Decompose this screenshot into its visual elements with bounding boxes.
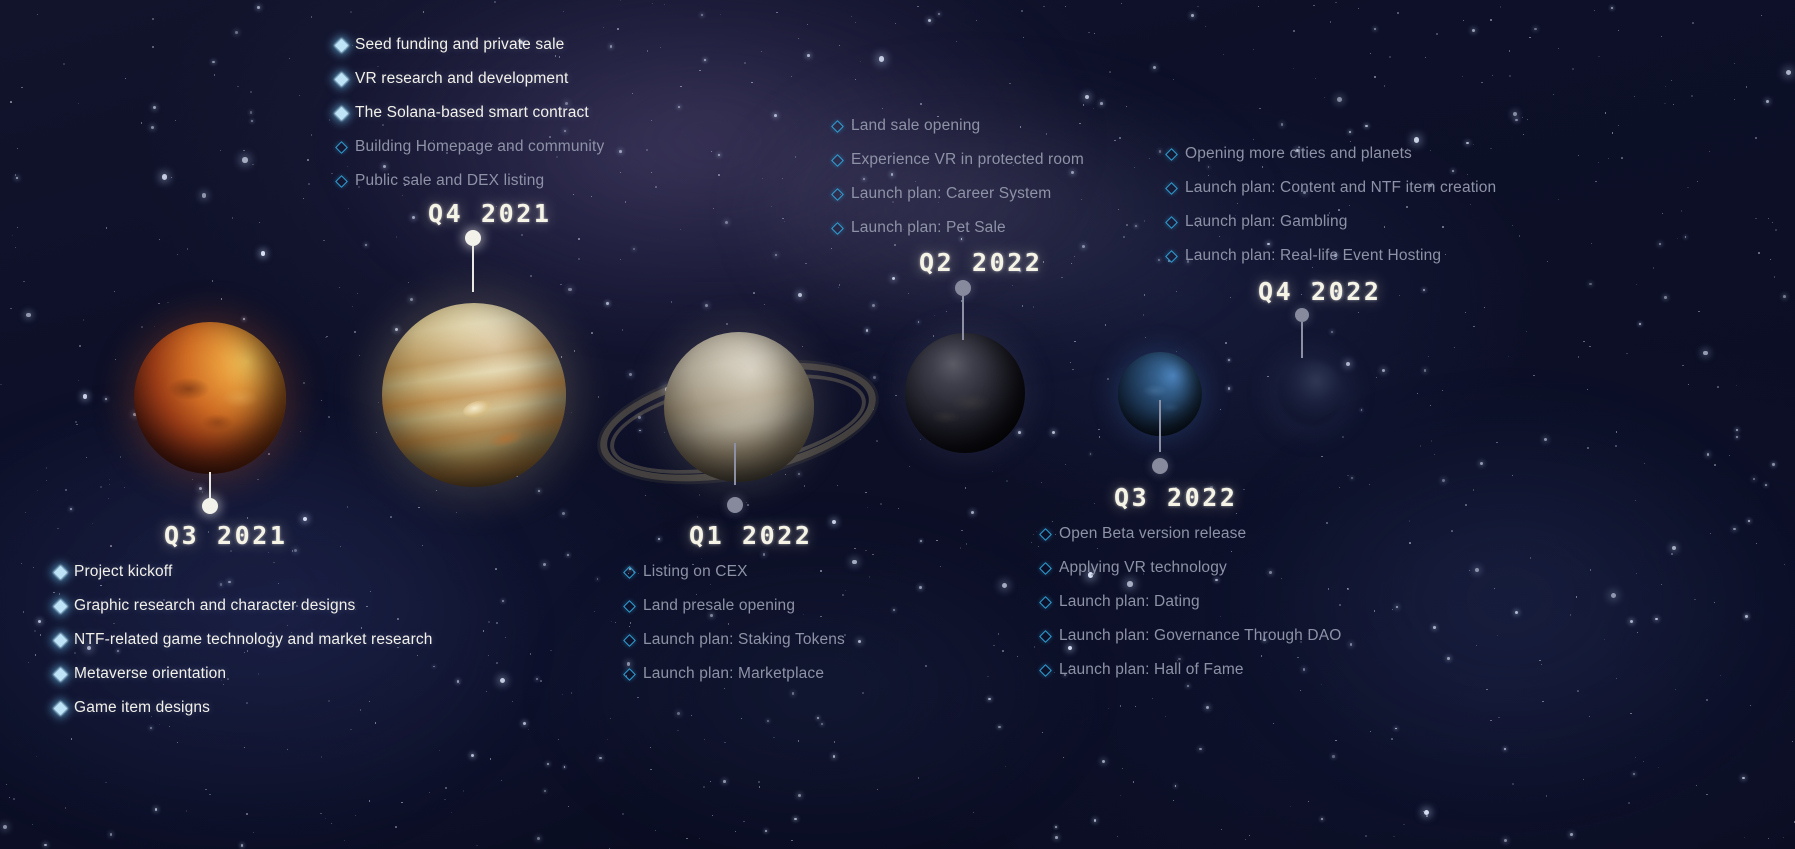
list-item[interactable]: Launch plan: Governance Through DAO bbox=[1041, 627, 1341, 645]
marker-dot[interactable] bbox=[202, 498, 218, 514]
list-item[interactable]: Listing on CEX bbox=[625, 563, 845, 581]
bullet-outline-diamond-icon bbox=[1039, 630, 1052, 643]
list-item-label: Launch plan: Staking Tokens bbox=[643, 631, 845, 649]
list-item-label: Game item designs bbox=[74, 699, 210, 717]
list-item[interactable]: Applying VR technology bbox=[1041, 559, 1341, 577]
bullet-filled-diamond-icon bbox=[54, 634, 67, 647]
list-item-label: Experience VR in protected room bbox=[851, 151, 1084, 169]
list-item[interactable]: Graphic research and character designs bbox=[56, 597, 433, 615]
bullet-filled-diamond-icon bbox=[335, 39, 348, 52]
list-item[interactable]: The Solana-based smart contract bbox=[337, 104, 604, 122]
saturn-cloud-bands bbox=[664, 332, 814, 482]
list-item[interactable]: Launch plan: Dating bbox=[1041, 593, 1341, 611]
bullet-outline-diamond-icon bbox=[831, 154, 844, 167]
list-item[interactable]: Launch plan: Gambling bbox=[1167, 213, 1496, 231]
planet-jupiter bbox=[382, 303, 566, 487]
bullet-outline-diamond-icon bbox=[623, 668, 636, 681]
list-item-label: Metaverse orientation bbox=[74, 665, 226, 683]
list-item-label: Launch plan: Content and NTF item creati… bbox=[1185, 179, 1496, 197]
list-item-label: Listing on CEX bbox=[643, 563, 748, 581]
marker-connector-line bbox=[1159, 400, 1161, 452]
bullet-outline-diamond-icon bbox=[1039, 596, 1052, 609]
planet-mars bbox=[134, 322, 286, 474]
bullet-filled-diamond-icon bbox=[54, 566, 67, 579]
list-item[interactable]: Launch plan: Hall of Fame bbox=[1041, 661, 1341, 679]
list-item-label: VR research and development bbox=[355, 70, 568, 88]
list-item[interactable]: Experience VR in protected room bbox=[833, 151, 1084, 169]
bullet-outline-diamond-icon bbox=[623, 566, 636, 579]
list-item[interactable]: Launch plan: Staking Tokens bbox=[625, 631, 845, 649]
milestone-title-q3-2021: Q3 2021 bbox=[164, 521, 288, 550]
list-item[interactable]: Building Homepage and community bbox=[337, 138, 604, 156]
list-item[interactable]: Launch plan: Real-life Event Hosting bbox=[1167, 247, 1496, 265]
bullet-outline-diamond-icon bbox=[335, 141, 348, 154]
marker-connector-line bbox=[734, 443, 736, 485]
planet-saturn-group bbox=[598, 330, 878, 490]
list-item[interactable]: NTF-related game technology and market r… bbox=[56, 631, 433, 649]
list-item[interactable]: Launch plan: Pet Sale bbox=[833, 219, 1084, 237]
bullet-outline-diamond-icon bbox=[623, 634, 636, 647]
list-item-label: NTF-related game technology and market r… bbox=[74, 631, 433, 649]
list-item-label: Launch plan: Real-life Event Hosting bbox=[1185, 247, 1441, 265]
list-item[interactable]: Game item designs bbox=[56, 699, 433, 717]
marker-dot[interactable] bbox=[955, 280, 971, 296]
marker-dot[interactable] bbox=[1295, 308, 1309, 322]
list-item-label: Launch plan: Hall of Fame bbox=[1059, 661, 1244, 679]
bullet-filled-diamond-icon bbox=[335, 107, 348, 120]
bullet-filled-diamond-icon bbox=[335, 73, 348, 86]
milestone-items-q3-2021: Project kickoff Graphic research and cha… bbox=[56, 563, 433, 733]
milestone-items-q1-2022: Listing on CEX Land presale opening Laun… bbox=[625, 563, 845, 699]
list-item-label: Building Homepage and community bbox=[355, 138, 604, 156]
list-item-label: Launch plan: Career System bbox=[851, 185, 1051, 203]
marker-connector-line bbox=[962, 296, 964, 340]
bullet-outline-diamond-icon bbox=[623, 600, 636, 613]
milestone-title-q2-2022: Q2 2022 bbox=[919, 248, 1043, 277]
jupiter-cloud-bands bbox=[382, 303, 566, 487]
bullet-filled-diamond-icon bbox=[54, 702, 67, 715]
bullet-outline-diamond-icon bbox=[1165, 182, 1178, 195]
list-item-label: Project kickoff bbox=[74, 563, 172, 581]
list-item[interactable]: Launch plan: Marketplace bbox=[625, 665, 845, 683]
list-item[interactable]: Land presale opening bbox=[625, 597, 845, 615]
marker-connector-line bbox=[1301, 322, 1303, 358]
list-item-label: Launch plan: Gambling bbox=[1185, 213, 1348, 231]
list-item[interactable]: Project kickoff bbox=[56, 563, 433, 581]
milestone-items-q4-2021: Seed funding and private sale VR researc… bbox=[337, 36, 604, 206]
bullet-filled-diamond-icon bbox=[54, 668, 67, 681]
list-item-label: Launch plan: Dating bbox=[1059, 593, 1200, 611]
marker-dot[interactable] bbox=[465, 230, 481, 246]
mars-surface-texture bbox=[134, 322, 286, 474]
planet-dark-world bbox=[905, 333, 1025, 453]
list-item-label: Launch plan: Pet Sale bbox=[851, 219, 1006, 237]
list-item-label: Opening more cities and planets bbox=[1185, 145, 1412, 163]
list-item-label: Graphic research and character designs bbox=[74, 597, 355, 615]
list-item[interactable]: Opening more cities and planets bbox=[1167, 145, 1496, 163]
bullet-outline-diamond-icon bbox=[831, 222, 844, 235]
list-item-label: Land sale opening bbox=[851, 117, 980, 135]
list-item-label: Open Beta version release bbox=[1059, 525, 1246, 543]
bullet-outline-diamond-icon bbox=[1039, 528, 1052, 541]
marker-dot[interactable] bbox=[727, 497, 743, 513]
list-item[interactable]: Open Beta version release bbox=[1041, 525, 1341, 543]
marker-connector-line bbox=[472, 246, 474, 292]
bullet-outline-diamond-icon bbox=[1039, 562, 1052, 575]
bullet-outline-diamond-icon bbox=[1165, 216, 1178, 229]
bullet-outline-diamond-icon bbox=[1039, 664, 1052, 677]
list-item[interactable]: Seed funding and private sale bbox=[337, 36, 604, 54]
milestone-title-q4-2021: Q4 2021 bbox=[428, 199, 552, 228]
bullet-outline-diamond-icon bbox=[1165, 250, 1178, 263]
list-item[interactable]: Launch plan: Career System bbox=[833, 185, 1084, 203]
dark-planet-texture bbox=[905, 333, 1025, 453]
list-item-label: Applying VR technology bbox=[1059, 559, 1227, 577]
milestone-title-q4-2022: Q4 2022 bbox=[1258, 277, 1382, 306]
list-item-label: The Solana-based smart contract bbox=[355, 104, 589, 122]
milestone-title-q1-2022: Q1 2022 bbox=[689, 521, 813, 550]
list-item-label: Public sale and DEX listing bbox=[355, 172, 544, 190]
list-item-label: Launch plan: Marketplace bbox=[643, 665, 824, 683]
milestone-items-q4-2022: Opening more cities and planets Launch p… bbox=[1167, 145, 1496, 281]
list-item[interactable]: Launch plan: Content and NTF item creati… bbox=[1167, 179, 1496, 197]
milestone-items-q2-2022: Land sale opening Experience VR in prote… bbox=[833, 117, 1084, 253]
bullet-filled-diamond-icon bbox=[54, 600, 67, 613]
list-item-label: Land presale opening bbox=[643, 597, 795, 615]
marker-dot[interactable] bbox=[1152, 458, 1168, 474]
list-item-label: Launch plan: Governance Through DAO bbox=[1059, 627, 1341, 645]
planet-saturn bbox=[664, 332, 814, 482]
space-roadmap-canvas: Seed funding and private sale VR researc… bbox=[0, 0, 1795, 849]
bullet-outline-diamond-icon bbox=[1165, 148, 1178, 161]
bullet-outline-diamond-icon bbox=[831, 120, 844, 133]
milestone-title-q3-2022: Q3 2022 bbox=[1114, 483, 1238, 512]
planet-distant-faint bbox=[1278, 360, 1344, 426]
list-item[interactable]: Public sale and DEX listing bbox=[337, 172, 604, 190]
list-item[interactable]: VR research and development bbox=[337, 70, 604, 88]
bullet-outline-diamond-icon bbox=[335, 175, 348, 188]
list-item-label: Seed funding and private sale bbox=[355, 36, 564, 54]
milestone-items-q3-2022: Open Beta version release Applying VR te… bbox=[1041, 525, 1341, 695]
list-item[interactable]: Land sale opening bbox=[833, 117, 1084, 135]
bullet-outline-diamond-icon bbox=[831, 188, 844, 201]
list-item[interactable]: Metaverse orientation bbox=[56, 665, 433, 683]
